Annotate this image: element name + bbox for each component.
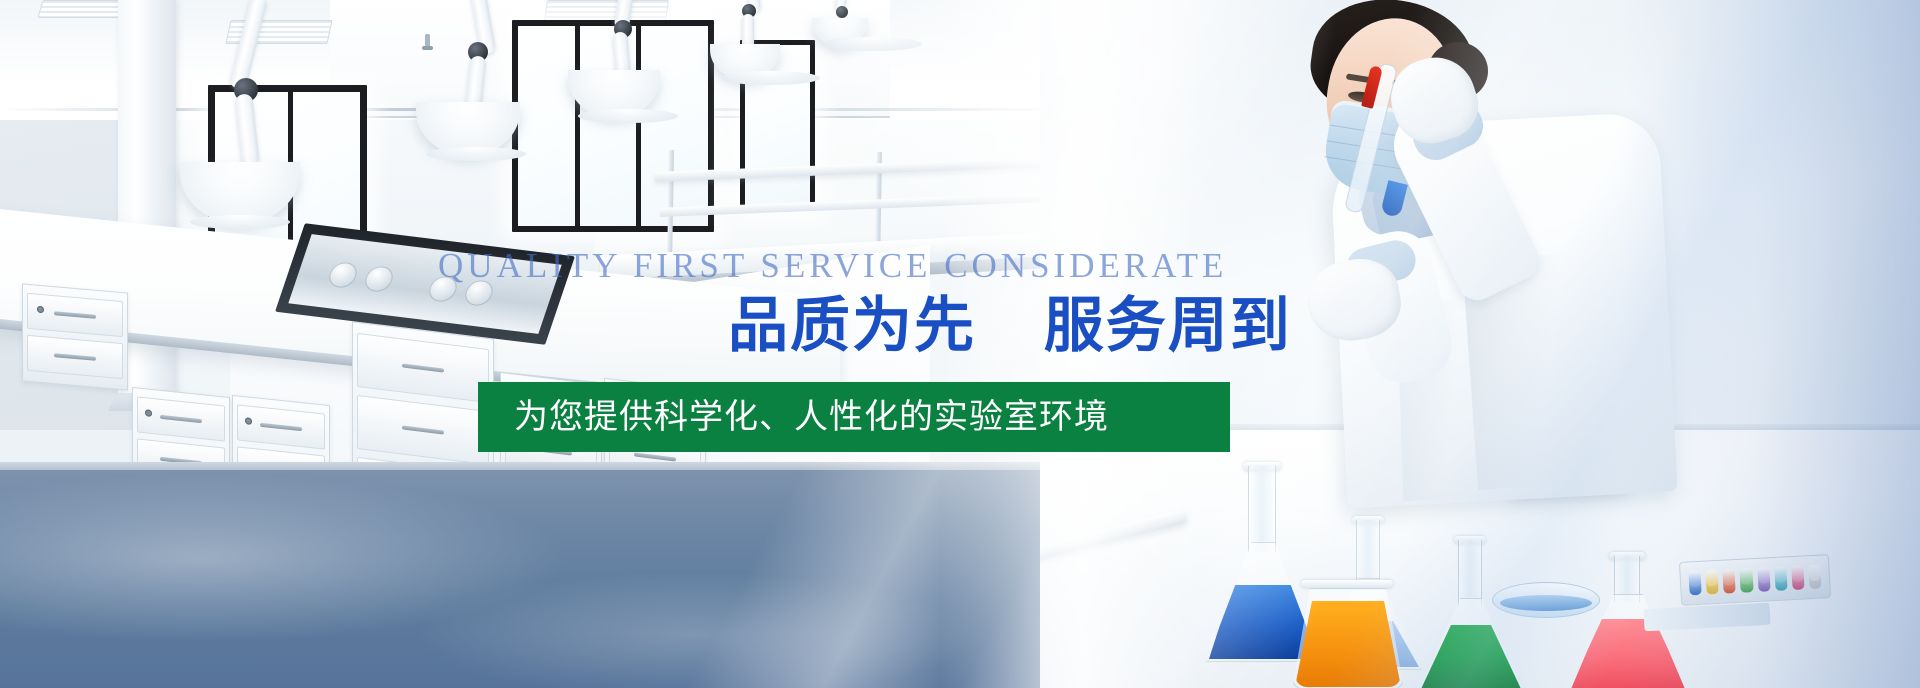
headline-part-2: 服务周到 [1044,291,1292,361]
subtitle-banner: 为您提供科学化、人性化的实验室环境 [478,382,1230,452]
subtitle-text: 为您提供科学化、人性化的实验室环境 [478,400,1109,434]
hero-banner: QUALITY FIRST SERVICE CONSIDERATE 品质为先 服… [0,0,1920,688]
headline-part-1: 品质为先 [728,291,976,361]
headline: 品质为先 服务周到 [728,296,1292,356]
english-tagline: QUALITY FIRST SERVICE CONSIDERATE [438,248,1227,283]
banner-copy: QUALITY FIRST SERVICE CONSIDERATE 品质为先 服… [0,0,1920,688]
